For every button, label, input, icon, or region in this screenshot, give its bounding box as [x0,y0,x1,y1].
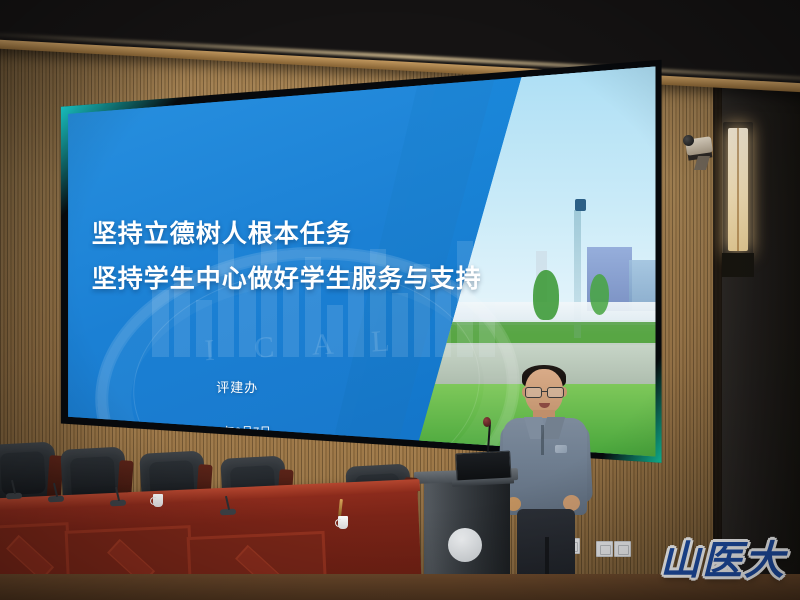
signal-strength-icon: ☰ [635,58,640,62]
slide-title-line-1: 坚持立德树人根本任务 [92,222,482,247]
paper-cup [153,494,163,507]
glasses-icon [524,387,565,397]
desk-microphone [48,496,64,503]
wall-power-outlet [596,541,613,557]
slide-title-line-2: 坚持学生中心做好学生服务与支持 [92,267,482,292]
university-crest-icon [85,75,111,101]
desk-microphone [110,500,126,507]
channel-watermark: 山医大 [660,528,786,586]
sconce-center-bar [737,128,739,251]
desk-microphone [220,509,236,516]
presenter-shirt-placket [541,425,544,455]
pillar-edge [713,0,722,600]
photo-tower-top [575,199,586,211]
slide-subtitle: 评建办 [216,377,258,396]
podium-microphone [483,417,491,427]
wall-power-outlet [614,541,631,557]
desk-microphone [6,493,22,500]
photo-tree [533,270,558,320]
logo-chinese-name: 山西医科大学 [118,76,239,93]
slide-title-block: 坚持立德树人根本任务 坚持学生中心做好学生服务与支持 [92,222,482,292]
shirt-logo [555,445,567,453]
cloud-record-icon [357,58,366,65]
wall-sconce-light [723,122,753,257]
active-speaker-label: 正在讲话：主持人 [549,58,601,63]
camera-lens-icon [683,135,694,146]
conference-hall-scene: I C A L 山西医科大学 SHANXI MEDICAL UNIVERSITY… [0,0,800,600]
sconce-base [722,253,754,277]
microphone-icon [538,58,543,62]
stop-share-button[interactable]: 结束共享 [371,58,401,67]
screen-share-label: 您正在共享屏幕 [311,58,352,65]
screen-share-status-chip[interactable]: 您正在共享屏幕 结束共享 [306,58,406,70]
podium-emblem [448,528,482,562]
paper-cup [338,516,348,529]
